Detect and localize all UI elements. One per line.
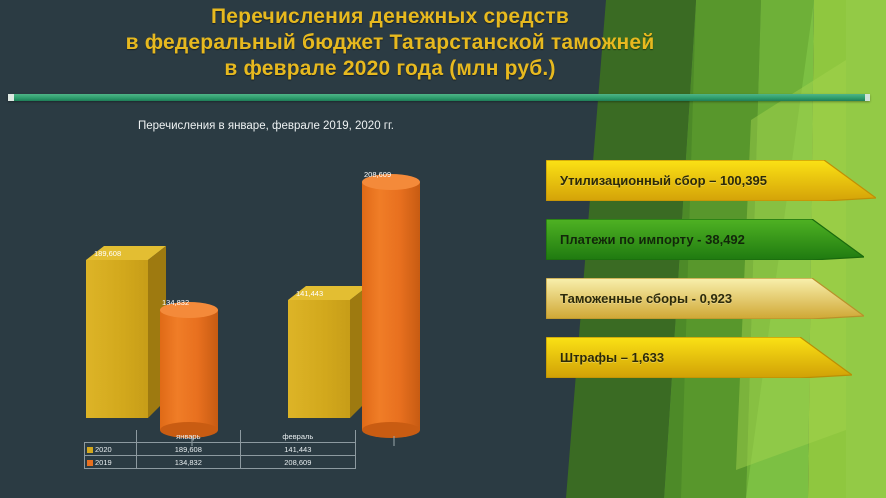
bar-label-2019-january: 134,832: [162, 298, 189, 307]
bar-label-2020-february: 141,443: [296, 289, 323, 298]
slide-canvas: Перечисления денежных средств в федераль…: [0, 0, 886, 498]
title-line-3: в феврале 2020 года (млн руб.): [0, 56, 780, 82]
callout-label: Таможенные сборы - 0,923: [546, 291, 732, 306]
title-line-1: Перечисления денежных средств: [0, 4, 780, 30]
legend-swatch-2019: [87, 460, 93, 466]
table-col-february: февраль: [240, 430, 355, 443]
bar-label-2020-january: 189,608: [94, 249, 121, 258]
table-corner-cell: [85, 430, 137, 443]
bar-2019-february: [362, 174, 420, 438]
callout-utilization-fee[interactable]: Утилизационный сбор – 100,395: [546, 160, 876, 201]
table-row: 2020 189,608 141,443: [85, 443, 356, 456]
cell-2020-february: 141,443: [240, 443, 355, 456]
bar-2020-january: [86, 246, 166, 418]
cell-2019-february: 208,609: [240, 456, 355, 469]
callout-customs-duties[interactable]: Таможенные сборы - 0,923: [546, 278, 864, 319]
chart-caption: Перечисления в январе, феврале 2019, 202…: [138, 120, 394, 132]
legend-swatch-2020: [87, 447, 93, 453]
legend-label-2019: 2019: [95, 458, 112, 467]
bar-2019-january: [160, 302, 218, 438]
table-row: 2019 134,832 208,609: [85, 456, 356, 469]
cell-2019-january: 134,832: [137, 456, 241, 469]
legend-item-2019: 2019: [85, 456, 137, 469]
slide-title: Перечисления денежных средств в федераль…: [0, 4, 780, 82]
table-col-january: январь: [137, 430, 241, 443]
legend-label-2020: 2020: [95, 445, 112, 454]
callout-label: Штрафы – 1,633: [546, 350, 664, 365]
callout-label: Платежи по импорту - 38,492: [546, 232, 745, 247]
bar-label-2019-february: 208,609: [364, 170, 391, 179]
callout-import-payments[interactable]: Платежи по импорту - 38,492: [546, 219, 864, 260]
cell-2020-january: 189,608: [137, 443, 241, 456]
title-line-2: в федеральный бюджет Татарстанской тамож…: [0, 30, 780, 56]
table-header-row: январь февраль: [85, 430, 356, 443]
bar-chart: 189,608 134,832 141,443 208,: [70, 150, 540, 450]
callout-label: Утилизационный сбор – 100,395: [546, 173, 767, 188]
legend-item-2020: 2020: [85, 443, 137, 456]
callout-fines[interactable]: Штрафы – 1,633: [546, 337, 852, 378]
title-divider: [8, 94, 870, 101]
chart-data-table: январь февраль 2020 189,608 141,443 2019…: [84, 430, 356, 469]
bar-2020-february: [288, 286, 368, 418]
